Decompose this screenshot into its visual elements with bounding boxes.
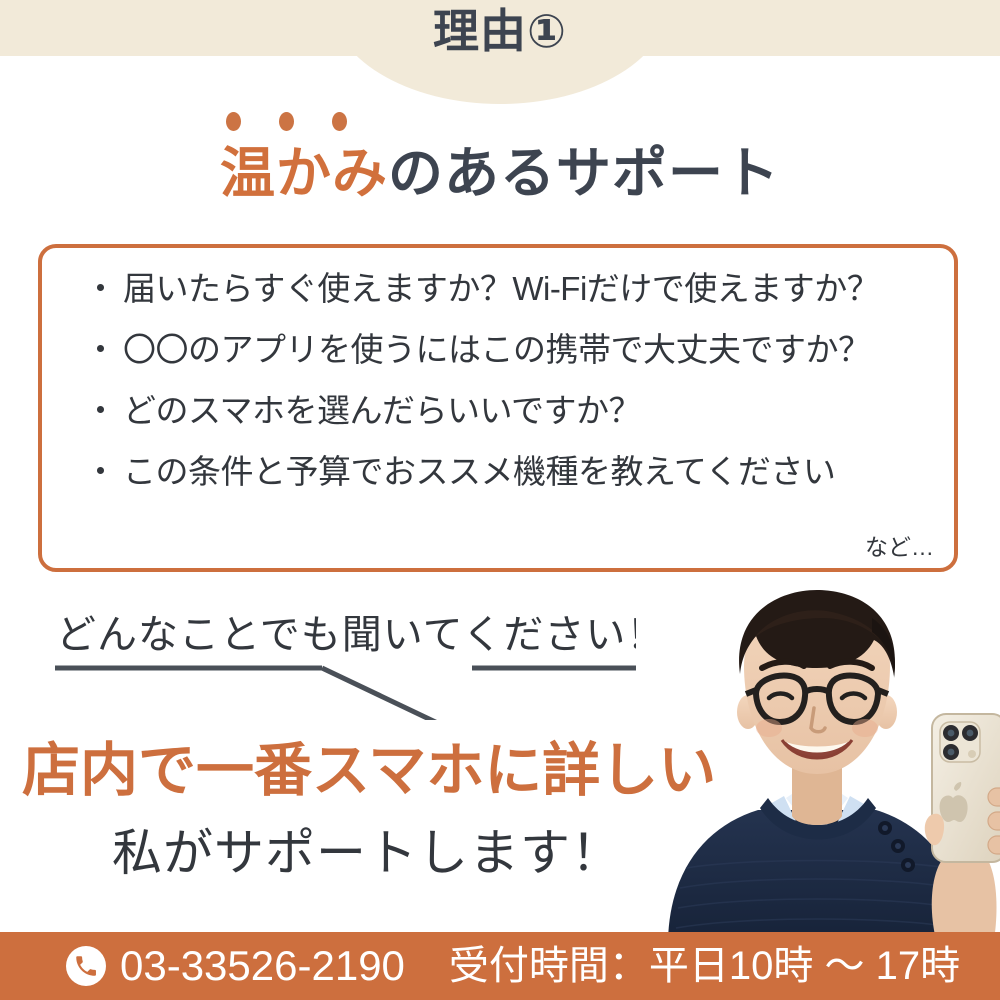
question-box: ・ 届いたらすぐ使えますか？Wi-Fiだけで使えますか？ ・ 〇〇のアプリを使う… xyxy=(38,244,958,572)
bullet-mark-icon: ・ xyxy=(84,455,117,488)
poster-root: 理由① 温かみのあるサポート ・ 届いたらすぐ使えますか？Wi-Fiだけで使えま… xyxy=(0,0,1000,1000)
list-item: ・ 届いたらすぐ使えますか？Wi-Fiだけで使えますか？ xyxy=(84,272,924,305)
list-item: ・ どのスマホを選んだらいいですか？ xyxy=(84,394,924,427)
emphasis-dots xyxy=(226,112,347,131)
footer-contact-bar: 03-33526-2190 受付時間：平日10時 ～ 17時 xyxy=(0,932,1000,1000)
phone-icon xyxy=(66,946,106,986)
trailing-note: など… xyxy=(865,528,934,562)
bullet-mark-icon: ・ xyxy=(84,394,117,427)
bullet-mark-icon: ・ xyxy=(84,272,117,305)
page-title: 理由① xyxy=(0,8,1000,54)
ask-line: どんなことでも聞いてください！ xyxy=(56,602,667,660)
speech-bubble-underline-icon xyxy=(50,660,650,720)
subtitle-rest: のあるサポート xyxy=(388,142,780,204)
bullet-mark-icon: ・ xyxy=(84,333,117,366)
list-item: ・ この条件と予算でおススメ機種を教えてください xyxy=(84,455,924,488)
emphasis-dot-icon xyxy=(279,112,294,131)
headline-sub: 私がサポートします！ xyxy=(112,828,622,878)
list-item-label: 届いたらすぐ使えますか？Wi-Fiだけで使えますか？ xyxy=(123,272,924,305)
question-list: ・ 届いたらすぐ使えますか？Wi-Fiだけで使えますか？ ・ 〇〇のアプリを使う… xyxy=(84,272,924,488)
list-item-label: どのスマホを選んだらいいですか？ xyxy=(123,394,924,427)
subtitle: 温かみのあるサポート xyxy=(0,142,1000,205)
phone-number[interactable]: 03-33526-2190 xyxy=(120,945,405,987)
emphasis-dot-icon xyxy=(332,112,347,131)
emphasis-dot-icon xyxy=(226,112,241,131)
subtitle-accent: 温かみ xyxy=(220,142,388,204)
headline-orange: 店内で一番スマホに詳しい xyxy=(22,742,716,800)
list-item-label: この条件と予算でおススメ機種を教えてください xyxy=(123,455,924,488)
list-item: ・ 〇〇のアプリを使うにはこの携帯で大丈夫ですか？ xyxy=(84,333,924,366)
business-hours: 受付時間：平日10時 ～ 17時 xyxy=(449,946,960,986)
list-item-label: 〇〇のアプリを使うにはこの携帯で大丈夫ですか？ xyxy=(123,333,924,366)
